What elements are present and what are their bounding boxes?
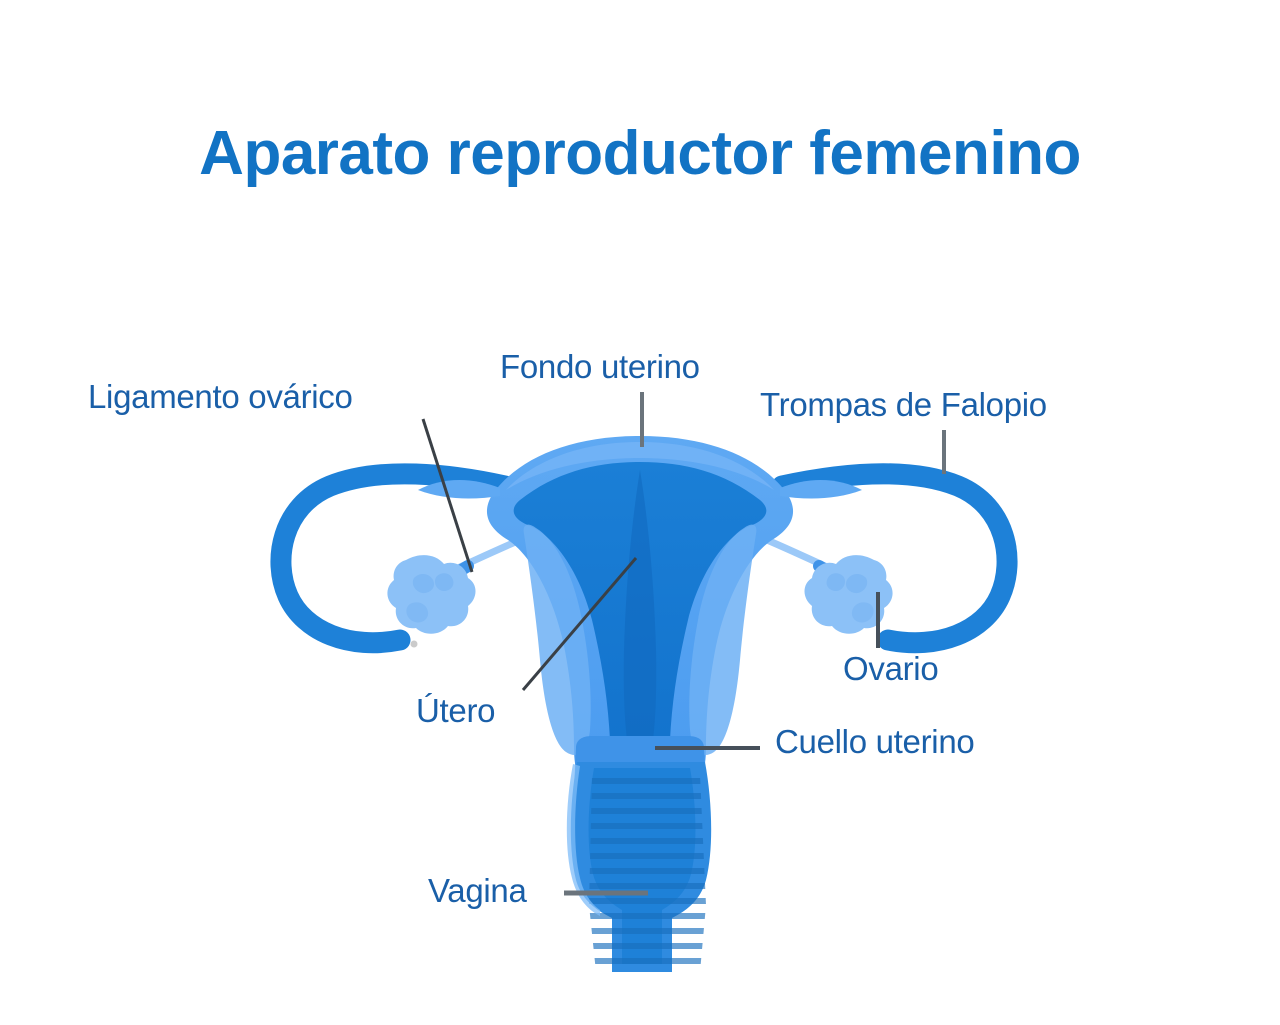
label-trompas-de-falopio: Trompas de Falopio (760, 386, 1047, 424)
artifact-speck (411, 641, 418, 648)
female-reproductive-system-svg (0, 0, 1280, 1025)
label-cuello-uterino: Cuello uterino (775, 723, 974, 761)
slide-canvas: Aparato reproductor femenino (0, 0, 1280, 1025)
label-ovario: Ovario (843, 650, 938, 688)
label-ligamento-ovarico: Ligamento ovárico (88, 378, 353, 416)
anatomy-illustration (0, 0, 1280, 1025)
label-vagina: Vagina (428, 872, 527, 910)
label-fondo-uterino: Fondo uterino (500, 348, 700, 386)
label-utero: Útero (416, 692, 495, 730)
